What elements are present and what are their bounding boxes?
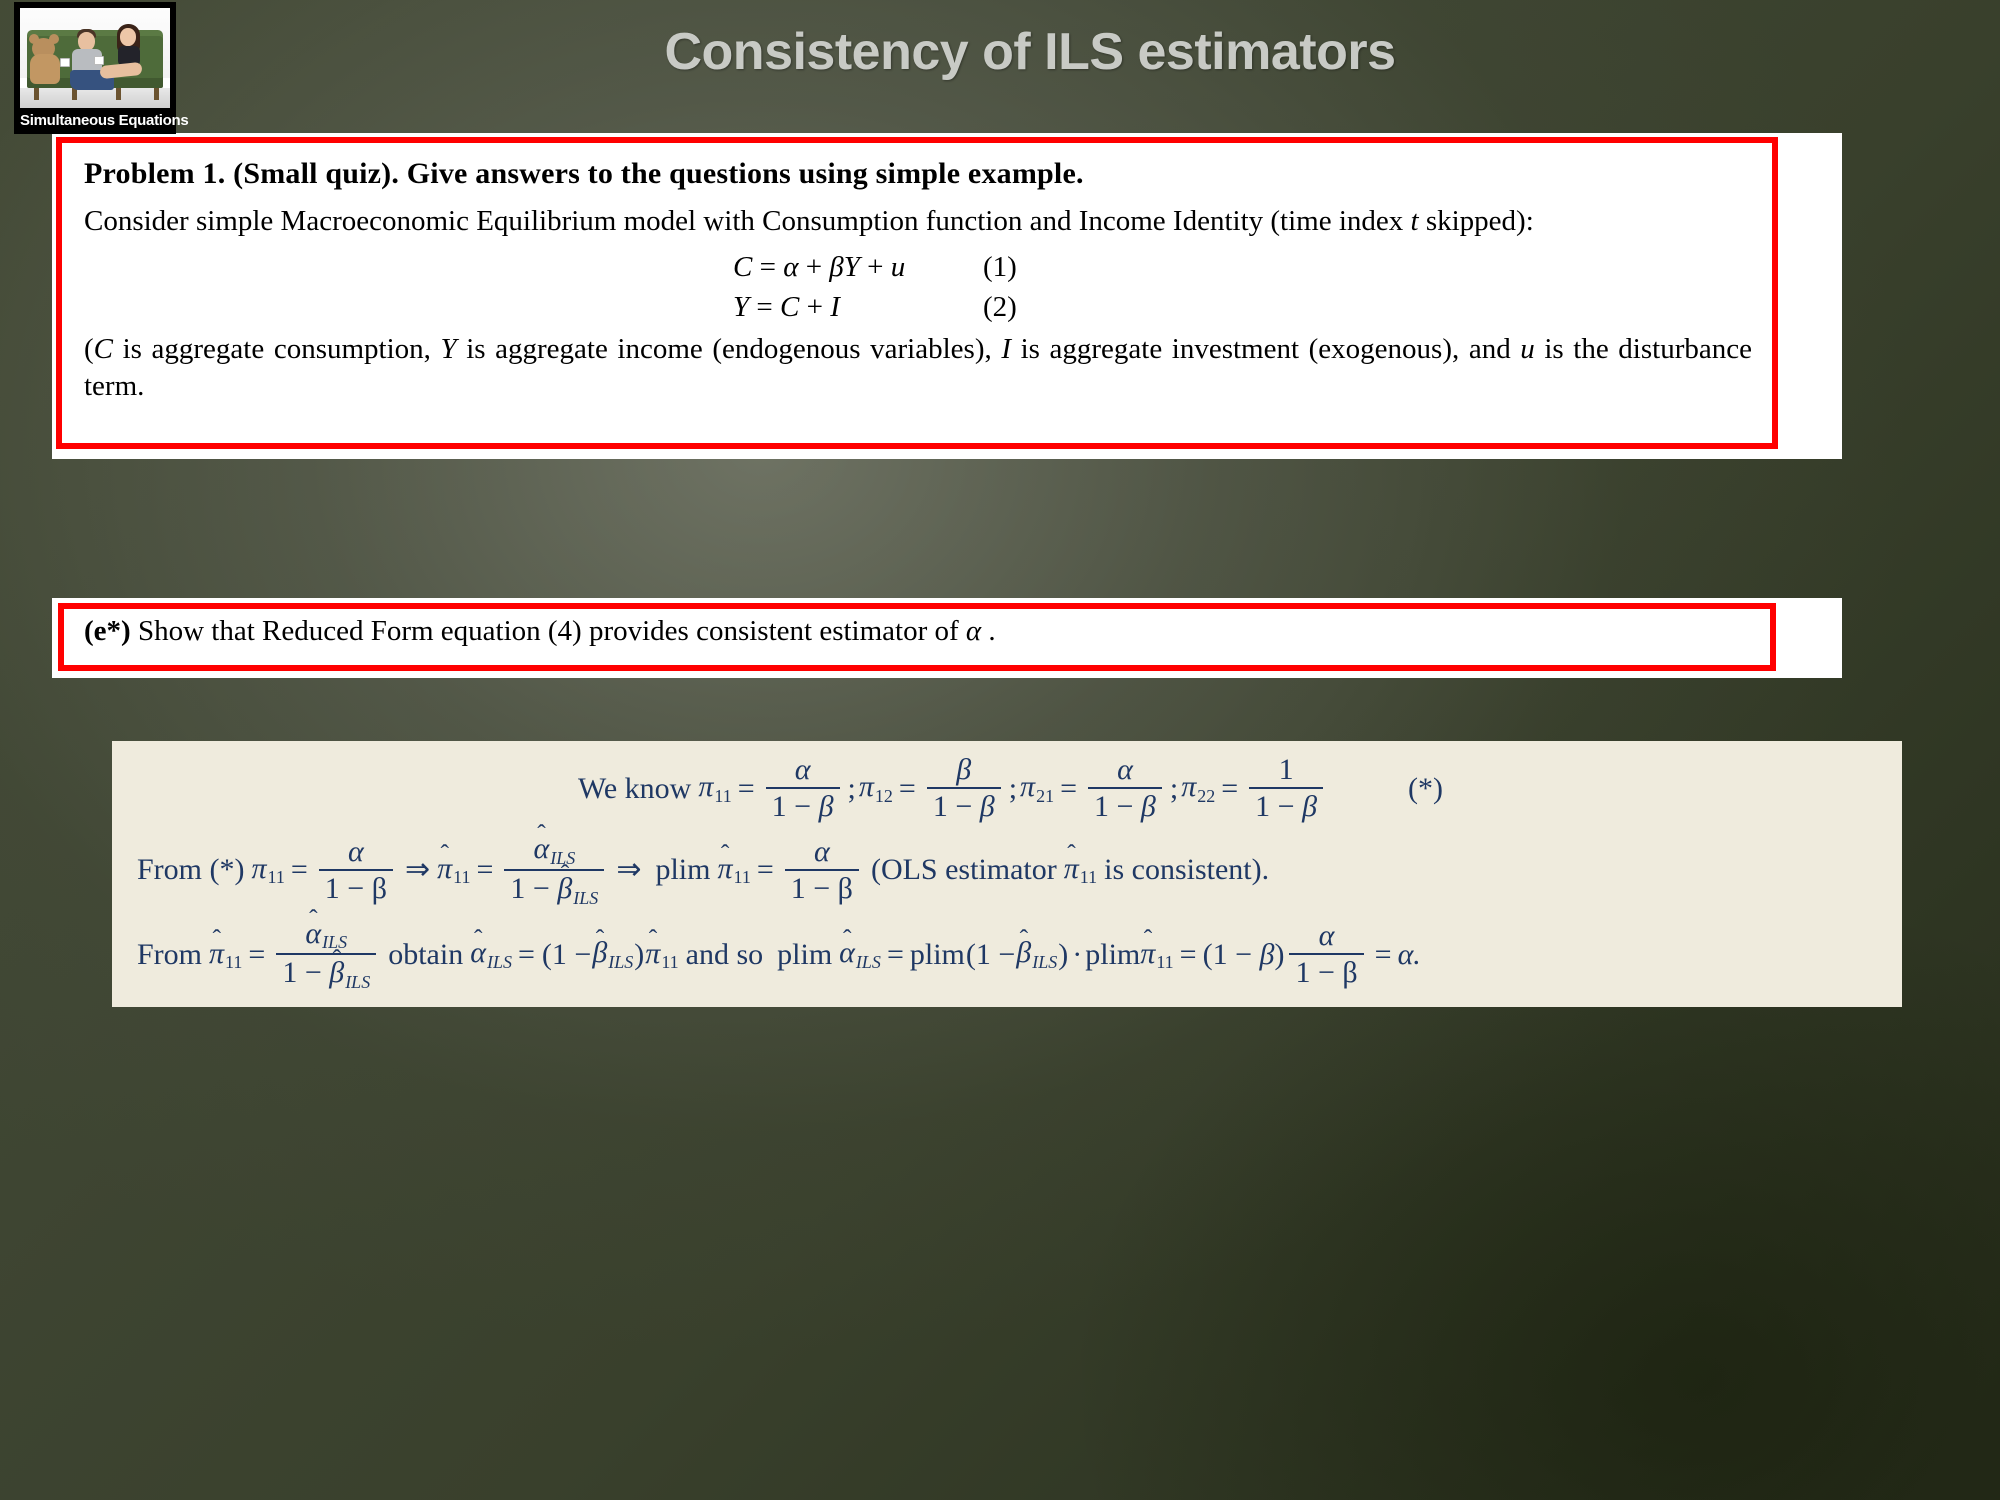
solution-line3-lead: From — [137, 940, 202, 970]
plim-operator-3: plim — [910, 940, 965, 970]
problem-intro-var-t: t — [1411, 205, 1419, 237]
problem-intro-line2-post: skipped): — [1419, 205, 1534, 237]
final-result-alpha: α. — [1398, 940, 1421, 970]
pi-hat-11-e: ˆπ11 — [645, 939, 678, 971]
legend-var-I: I — [1001, 333, 1011, 365]
legend-var-C: C — [94, 333, 113, 365]
question-line: (e*) Show that Reduced Form equation (4)… — [84, 615, 996, 647]
problem-legend: (C is aggregate consumption, Y is aggreg… — [84, 331, 1752, 406]
course-logo: Simultaneous Equations — [14, 2, 176, 134]
fraction-alpha-over-1-minus-beta-2: α 1 − β — [785, 837, 859, 904]
fraction-alphahat-over-1-minus-betahat: ˆαILS 1 − ˆβILS — [504, 834, 604, 907]
solution-line-3: From ˆπ11 = ˆαILS 1 − ˆβILS obtain ˆαILS… — [120, 919, 1894, 992]
question-panel: (e*) Show that Reduced Form equation (4)… — [52, 598, 1842, 678]
pi-hat-11-d: ˆπ11 — [209, 939, 242, 971]
slide-background: Simultaneous Equations Consistency of IL… — [0, 0, 2000, 1500]
pi-22-term: π22 — [1181, 772, 1215, 804]
equation-2-row: Y = C + I(2) — [84, 287, 1752, 327]
equation-1-number: (1) — [983, 247, 1103, 287]
pi-hat-11-a: ˆπ11 — [437, 854, 470, 886]
pi-hat-11-b: ˆπ11 — [717, 854, 750, 886]
alpha-hat-ils-1: ˆαILS — [470, 938, 512, 971]
problem-title: Problem 1. (Small quiz). Give answers to… — [84, 157, 1752, 191]
multiplication-dot-icon: · — [1072, 940, 1082, 970]
legend-var-Y: Y — [440, 333, 456, 365]
solution-line1-tag: (*) — [1408, 774, 1443, 804]
legend-var-u: u — [1520, 333, 1535, 365]
ols-note-close: is consistent). — [1104, 855, 1269, 885]
ted-movie-poster-thumbnail-icon — [20, 8, 170, 108]
question-symbol-alpha: α — [966, 615, 981, 647]
pi-11-plain: π11 — [252, 854, 285, 886]
equation-2-number: (2) — [983, 287, 1103, 327]
equation-1-body: C = α + βY + u — [733, 247, 983, 287]
model-equations: C = α + βY + u(1) Y = C + I(2) — [84, 247, 1752, 327]
fraction-alpha-over-1-minus-beta-3: α 1 − β — [1289, 921, 1363, 988]
equation-1-row: C = α + βY + u(1) — [84, 247, 1752, 287]
page-title: Consistency of ILS estimators — [180, 22, 1880, 82]
fraction-pi12: β 1 − β — [927, 755, 1001, 822]
question-box: (e*) Show that Reduced Form equation (4)… — [58, 603, 1776, 671]
fraction-pi11: α 1 − β — [766, 755, 840, 822]
solution-block: We know π11 = α 1 − β ; π12 = β 1 − β ; … — [112, 741, 1902, 1007]
fraction-pi22: 1 1 − β — [1249, 755, 1323, 822]
problem-panel: Problem 1. (Small quiz). Give answers to… — [52, 133, 1842, 459]
pi-hat-11-f: ˆπ11 — [1140, 939, 1173, 971]
logo-caption: Simultaneous Equations — [20, 108, 170, 134]
ols-note-open: (OLS estimator — [871, 855, 1057, 885]
problem-intro-line1: Consider simple Macroeconomic Equilibriu… — [84, 205, 1332, 237]
implies-arrow-2-icon: ⇒ — [616, 855, 641, 885]
question-label: (e*) — [84, 615, 131, 647]
alpha-hat-ils-2: ˆαILS — [839, 938, 881, 971]
obtain-word: obtain — [388, 940, 463, 970]
implies-arrow-1-icon: ⇒ — [405, 855, 430, 885]
solution-line-2: From (*) π11 = α 1 − β ⇒ ˆπ11 = ˆαILS 1 … — [120, 834, 1894, 907]
solution-line1-lead: We know — [578, 774, 691, 804]
and-so-words: and so — [686, 940, 764, 970]
fraction-alpha-over-1-minus-beta: α 1 − β — [319, 837, 393, 904]
beta-hat-ils-2: ˆβILS — [1016, 938, 1057, 971]
pi-hat-11-c: ˆπ11 — [1064, 854, 1097, 886]
equation-2-body: Y = C + I — [733, 287, 983, 327]
fraction-alphahat-over-1-minus-betahat-2: ˆαILS 1 − ˆβILS — [276, 919, 376, 992]
plim-operator-2: plim — [777, 940, 832, 970]
pi-11-term: π11 — [698, 772, 731, 804]
question-text-after: . — [981, 615, 996, 647]
plim-operator-4: plim — [1085, 940, 1140, 970]
problem-statement-box: Problem 1. (Small quiz). Give answers to… — [56, 137, 1778, 449]
question-text: Show that Reduced Form equation (4) prov… — [131, 615, 966, 647]
one-minus-beta-factor: (1 − β) — [1203, 940, 1285, 970]
solution-line-1: We know π11 = α 1 − β ; π12 = β 1 − β ; … — [120, 755, 1894, 822]
problem-intro-line2-pre: index — [1339, 205, 1411, 237]
pi-12-term: π12 — [859, 772, 893, 804]
problem-intro: Consider simple Macroeconomic Equilibriu… — [84, 203, 1752, 241]
fraction-pi21: α 1 − β — [1088, 755, 1162, 822]
plim-operator-1: plim — [655, 855, 710, 885]
pi-21-term: π21 — [1020, 772, 1054, 804]
beta-hat-ils-1: ˆβILS — [592, 938, 633, 971]
solution-line2-lead: From (*) — [137, 855, 245, 885]
